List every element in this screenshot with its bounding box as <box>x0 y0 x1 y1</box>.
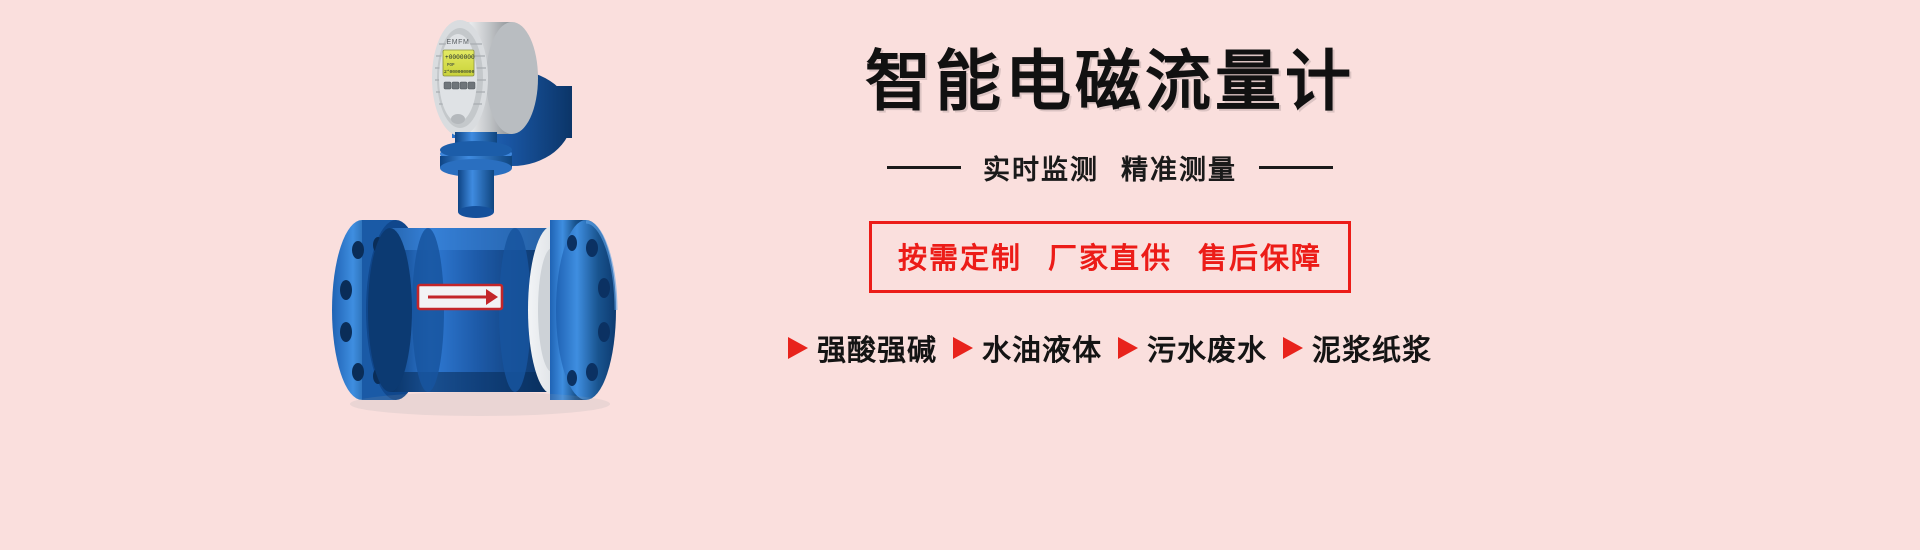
triangle-right-icon <box>788 337 808 359</box>
feature-item-3: 污水废水 <box>1118 327 1267 369</box>
feature-label-3: 污水废水 <box>1147 327 1267 369</box>
flowmeter-neck <box>440 132 512 218</box>
promo-item-2: 厂家直供 <box>1048 235 1172 277</box>
device-brand-text: EMFM <box>446 39 469 46</box>
feature-label-4: 泥浆纸浆 <box>1312 327 1432 369</box>
feature-item-1: 强酸强碱 <box>788 327 937 369</box>
promo-item-1: 按需定制 <box>898 235 1022 277</box>
feature-list: 强酸强碱 水油液体 污水废水 泥浆纸浆 <box>788 327 1432 369</box>
promo-item-3: 售后保障 <box>1198 235 1322 277</box>
page-title: 智能电磁流量计 <box>865 48 1355 114</box>
promo-badge: 按需定制 厂家直供 售后保障 <box>869 221 1351 293</box>
banner-content: 智能电磁流量计 实时监测 精准测量 按需定制 厂家直供 售后保障 强酸强碱 水油… <box>700 0 1520 550</box>
rule-left-icon <box>887 166 961 169</box>
feature-label-1: 强酸强碱 <box>817 327 937 369</box>
product-banner: EMFM +0000000 POP 2*000000000 <box>0 0 1920 550</box>
feature-item-2: 水油液体 <box>953 327 1102 369</box>
subtitle-right: 精准测量 <box>1121 148 1237 187</box>
triangle-right-icon <box>1283 337 1303 359</box>
right-flange <box>550 220 616 400</box>
triangle-right-icon <box>1118 337 1138 359</box>
rule-right-icon <box>1259 166 1333 169</box>
triangle-right-icon <box>953 337 973 359</box>
lcd-line1: +0000000 <box>445 54 475 61</box>
feature-item-4: 泥浆纸浆 <box>1283 327 1432 369</box>
lcd-line2: POP <box>447 64 455 68</box>
lcd-line3: 2*000000000 <box>444 69 475 75</box>
subtitle-row: 实时监测 精准测量 <box>887 148 1333 187</box>
flow-direction-nameplate <box>418 285 502 309</box>
feature-label-2: 水油液体 <box>982 327 1102 369</box>
subtitle-left: 实时监测 <box>983 148 1099 187</box>
electromagnetic-flowmeter-illustration: EMFM +0000000 POP 2*000000000 <box>300 0 680 470</box>
